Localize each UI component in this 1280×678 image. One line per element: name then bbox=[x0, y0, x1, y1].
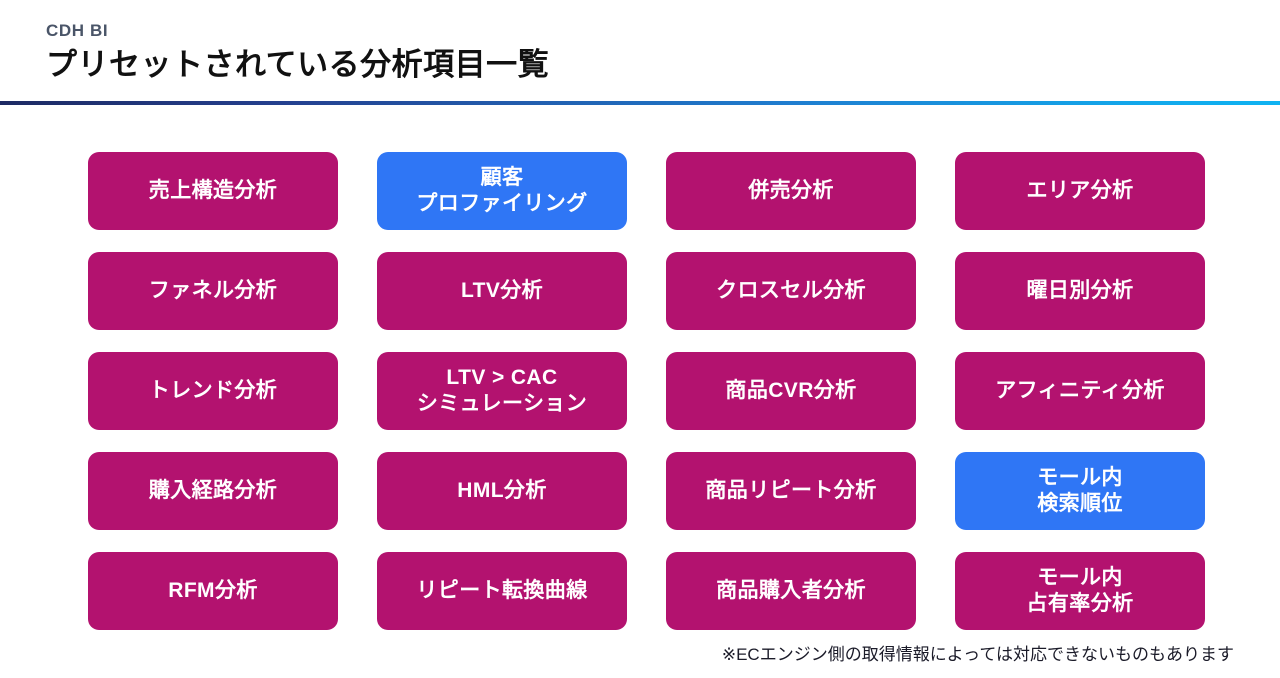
analysis-tile[interactable]: 曜日別分析 bbox=[955, 252, 1205, 330]
analysis-tile[interactable]: HML分析 bbox=[377, 452, 627, 530]
analysis-tile[interactable]: エリア分析 bbox=[955, 152, 1205, 230]
analysis-tile[interactable]: 顧客 プロファイリング bbox=[377, 152, 627, 230]
analysis-tile[interactable]: リピート転換曲線 bbox=[377, 552, 627, 630]
footnote-text: ※ECエンジン側の取得情報によっては対応できないものもあります bbox=[722, 644, 1234, 666]
analysis-tile[interactable]: 商品購入者分析 bbox=[666, 552, 916, 630]
analysis-tile[interactable]: 購入経路分析 bbox=[88, 452, 338, 530]
analysis-tile[interactable]: 売上構造分析 bbox=[88, 152, 338, 230]
analysis-tile-grid: 売上構造分析顧客 プロファイリング併売分析エリア分析ファネル分析LTV分析クロス… bbox=[88, 152, 1204, 630]
analysis-tile[interactable]: モール内 占有率分析 bbox=[955, 552, 1205, 630]
analysis-tile[interactable]: LTV分析 bbox=[377, 252, 627, 330]
analysis-tile[interactable]: クロスセル分析 bbox=[666, 252, 916, 330]
header-divider bbox=[0, 101, 1280, 105]
analysis-tile[interactable]: LTV > CAC シミュレーション bbox=[377, 352, 627, 430]
analysis-tile[interactable]: RFM分析 bbox=[88, 552, 338, 630]
analysis-tile[interactable]: ファネル分析 bbox=[88, 252, 338, 330]
analysis-tile[interactable]: 併売分析 bbox=[666, 152, 916, 230]
page-title: プリセットされている分析項目一覧 bbox=[46, 47, 1280, 83]
analysis-tile[interactable]: アフィニティ分析 bbox=[955, 352, 1205, 430]
analysis-tile[interactable]: 商品CVR分析 bbox=[666, 352, 916, 430]
analysis-tile[interactable]: モール内 検索順位 bbox=[955, 452, 1205, 530]
product-label: CDH BI bbox=[46, 22, 1280, 41]
slide-header: CDH BI プリセットされている分析項目一覧 bbox=[0, 0, 1280, 104]
analysis-tile[interactable]: トレンド分析 bbox=[88, 352, 338, 430]
analysis-tile[interactable]: 商品リピート分析 bbox=[666, 452, 916, 530]
